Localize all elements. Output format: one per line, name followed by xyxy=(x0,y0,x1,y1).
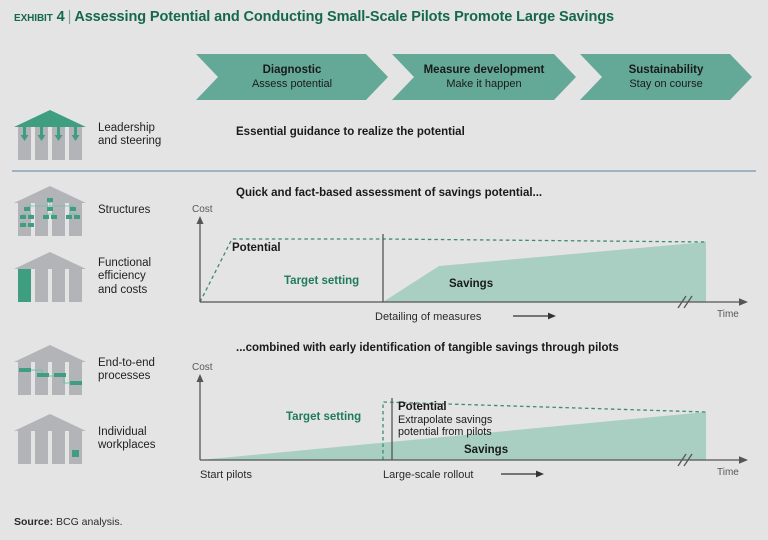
pillar-label-structures: Structures xyxy=(98,204,182,218)
pillar-label-line1: Individual xyxy=(98,426,182,440)
pillar-row-structures: Structures xyxy=(12,186,182,236)
marker-arrow-icon xyxy=(501,471,544,478)
pillar-label-line1: Leadership xyxy=(98,122,182,136)
pillar-label-leadership: Leadership and steering xyxy=(98,122,182,149)
process-chevron-bar: Diagnostic Assess potential Measure deve… xyxy=(196,54,752,100)
phase-title: Measure development xyxy=(424,63,545,77)
phase-title: Diagnostic xyxy=(263,63,322,77)
temple-functional-icon xyxy=(12,252,88,302)
x-axis-label: Time xyxy=(717,467,739,478)
annotation-savings: Savings xyxy=(449,278,493,290)
phase-chevron-diagnostic[interactable]: Diagnostic Assess potential xyxy=(196,54,388,100)
pillar-label-line1: Functional xyxy=(98,257,182,271)
source-label: Source: xyxy=(14,516,53,528)
phase-subtitle: Stay on course xyxy=(629,77,702,91)
page-title: Exhibit 4|Assessing Potential and Conduc… xyxy=(14,9,614,25)
pillar-label-line2: and steering xyxy=(98,135,182,149)
pillar-row-leadership: Leadership and steering xyxy=(12,110,182,160)
pillar-label-line1: End-to-end xyxy=(98,357,182,371)
pillar-label-functional: Functional efficiency and costs xyxy=(98,257,182,298)
phase-subtitle: Make it happen xyxy=(446,77,521,91)
annotation-extrapolate-line2: potential from pilots xyxy=(398,426,492,438)
y-axis-label: Cost xyxy=(192,362,213,373)
title-headline: Assessing Potential and Conducting Small… xyxy=(74,9,614,25)
pillar-row-processes: End-to-end processes xyxy=(12,345,182,395)
temple-leadership-icon xyxy=(12,110,88,160)
chart1-heading: Quick and fact-based assessment of savin… xyxy=(236,187,542,199)
x-axis-label: Time xyxy=(717,309,739,320)
annotation-extrapolate-line1: Extrapolate savings xyxy=(398,414,493,426)
origin-label-start-pilots: Start pilots xyxy=(200,469,252,481)
pillar-label-line2: workplaces xyxy=(98,439,182,453)
marker-arrow-icon xyxy=(513,313,556,320)
pillar-label-line3: and costs xyxy=(98,284,182,298)
section-divider xyxy=(12,170,756,172)
annotation-target-setting: Target setting xyxy=(286,411,361,423)
phase-chevron-measure-development[interactable]: Measure development Make it happen xyxy=(392,54,576,100)
marker-label-detailing: Detailing of measures xyxy=(375,311,482,323)
exhibit-page: Exhibit 4|Assessing Potential and Conduc… xyxy=(0,0,768,540)
annotation-savings: Savings xyxy=(464,444,508,456)
phase-title: Sustainability xyxy=(629,63,704,77)
phase-subtitle: Assess potential xyxy=(252,77,332,91)
temple-process-icon xyxy=(12,345,88,395)
exhibit-label: Exhibit 4 xyxy=(14,9,65,25)
pillar-row-functional: Functional efficiency and costs xyxy=(12,252,182,302)
annotation-potential: Potential xyxy=(398,401,447,413)
pillar-label-line2: processes xyxy=(98,370,182,384)
temple-workplace-icon xyxy=(12,414,88,464)
phase-chevron-sustainability[interactable]: Sustainability Stay on course xyxy=(580,54,752,100)
chart-pilot-savings: Cost Time Target setting Potential Extra… xyxy=(186,358,758,488)
series-savings-area xyxy=(383,242,706,302)
pillar-row-workplaces: Individual workplaces xyxy=(12,414,182,464)
chart-savings-potential: Cost Time Potential Target setting Savin… xyxy=(186,200,758,330)
source-note: Source: BCG analysis. xyxy=(14,516,123,528)
source-text: BCG analysis. xyxy=(56,516,123,528)
pillar-label-line1: Structures xyxy=(98,204,182,218)
annotation-potential: Potential xyxy=(232,242,281,254)
pillar-label-workplaces: Individual workplaces xyxy=(98,426,182,453)
y-axis-label: Cost xyxy=(192,204,213,215)
callout-essential-guidance: Essential guidance to realize the potent… xyxy=(236,126,465,138)
pillar-label-processes: End-to-end processes xyxy=(98,357,182,384)
temple-structures-icon xyxy=(12,186,88,236)
marker-label-rollout: Large-scale rollout xyxy=(383,469,474,481)
pillar-label-line2: efficiency xyxy=(98,270,182,284)
chart2-heading: ...combined with early identification of… xyxy=(236,342,619,354)
annotation-target-setting: Target setting xyxy=(284,275,359,287)
title-separator: | xyxy=(65,9,75,25)
